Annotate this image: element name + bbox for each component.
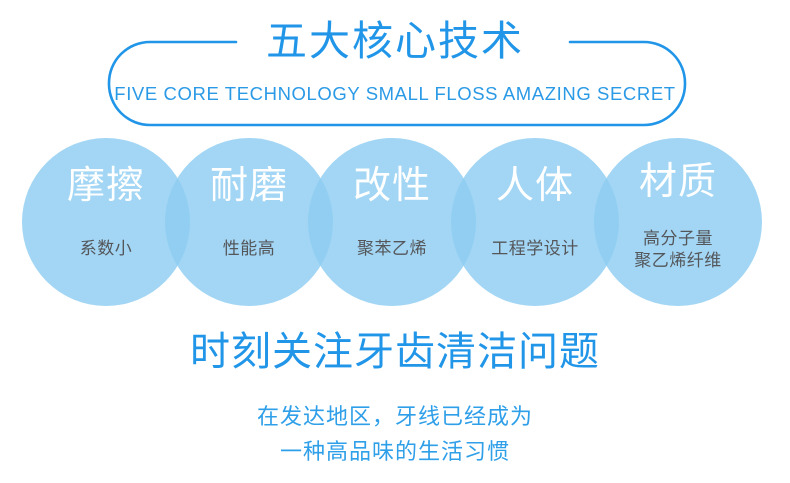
footer-line-1: 在发达地区，牙线已经成为 xyxy=(0,402,790,432)
header-badge: 五大核心技术 FIVE CORE TECHNOLOGY SMALL FLOSS … xyxy=(0,0,790,132)
footer-message: 时刻关注牙齿清洁问题 在发达地区，牙线已经成为 一种高品味的生活习惯 xyxy=(0,315,790,483)
core-technology-circle-row: 摩擦 系数小 耐磨 性能高 改性 聚苯乙烯 人体 工程学设计 材质 高分子量 聚… xyxy=(0,138,790,306)
circle-subtitle-5-line1: 高分子量 xyxy=(643,229,713,248)
header-title: 五大核心技术 xyxy=(0,18,790,64)
circle-subtitle-5: 高分子量 聚乙烯纤维 xyxy=(594,228,762,272)
footer-headline: 时刻关注牙齿清洁问题 xyxy=(0,327,790,377)
infographic-root: 五大核心技术 FIVE CORE TECHNOLOGY SMALL FLOSS … xyxy=(0,0,790,483)
circle-title-5: 材质 xyxy=(594,160,762,204)
footer-line-2: 一种高品味的生活习惯 xyxy=(0,437,790,467)
circle-subtitle-5-line2: 聚乙烯纤维 xyxy=(634,251,722,270)
circle-item-5[interactable]: 材质 高分子量 聚乙烯纤维 xyxy=(594,138,762,306)
header-subtitle: FIVE CORE TECHNOLOGY SMALL FLOSS AMAZING… xyxy=(0,83,790,105)
